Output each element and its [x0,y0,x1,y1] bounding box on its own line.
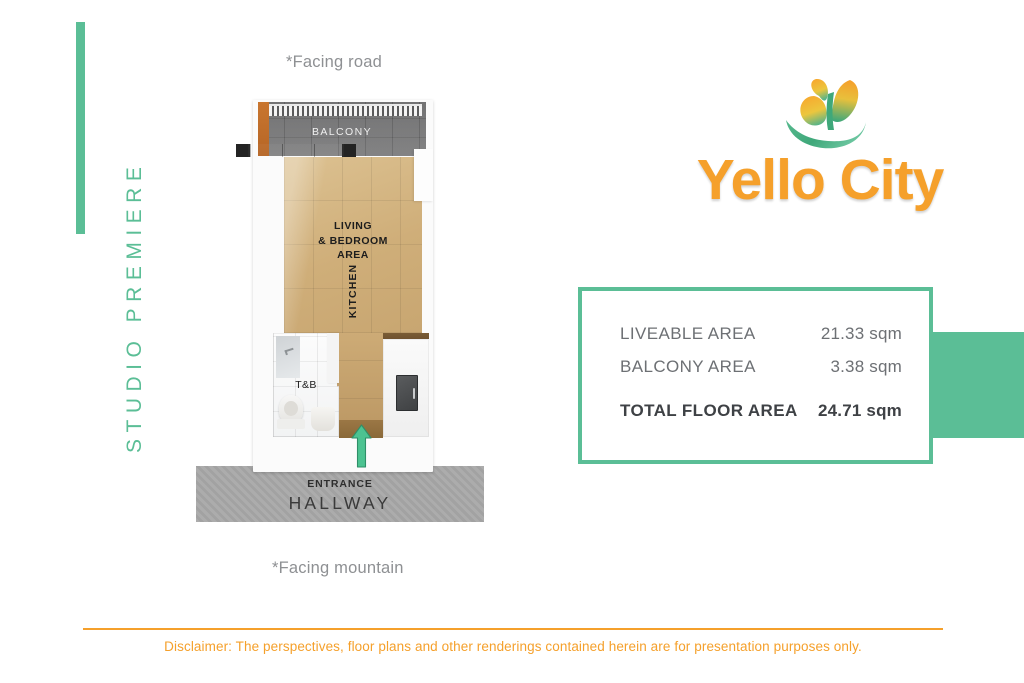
shower-area [276,336,300,378]
disclaimer-text: Disclaimer: The perspectives, floor plan… [83,639,943,654]
total-area-label: TOTAL FLOOR AREA [620,401,798,421]
unit-type-title: STUDIO PREMIERE [115,123,155,453]
footer-divider [83,628,943,630]
balcony-label: BALCONY [258,126,426,138]
toilet-tank [277,419,305,429]
floor-plan-drawing: ENTRANCE HALLWAY BALCONY LIVING & BEDROO… [196,90,496,530]
living-label-line1: LIVING [334,220,372,232]
hallway-label: HALLWAY [196,493,484,514]
entrance-label: ENTRANCE [196,478,484,490]
sink-fixture [311,407,335,431]
brand-logo: Yello City [694,78,946,214]
area-row-liveable: LIVEABLE AREA 21.33 sqm [620,324,902,344]
sprout-leaf-icon [766,78,886,154]
sliding-door-jamb-right [344,144,356,157]
kitchen-label: KITCHEN [346,245,360,337]
note-facing-mountain: *Facing mountain [272,559,404,578]
liveable-area-label: LIVEABLE AREA [620,324,756,344]
total-area-value: 24.71 sqm [818,401,902,421]
kitchen-partition-wall [327,333,339,383]
floorplan-page: STUDIO PREMIERE *Facing road *Facing mou… [0,0,1024,683]
green-accent-tab [930,332,1024,438]
area-row-total: TOTAL FLOOR AREA 24.71 sqm [620,401,902,421]
showerhead-icon [284,348,294,356]
sliding-glass-door [248,144,344,157]
wall-recess [414,149,433,201]
refrigerator-appliance [396,375,418,411]
sliding-door-jamb-left [236,144,248,157]
area-row-balcony: BALCONY AREA 3.38 sqm [620,357,902,377]
liveable-area-value: 21.33 sqm [821,324,902,344]
hallway-band: ENTRANCE HALLWAY [196,466,484,522]
balcony-railing [264,104,422,116]
balcony-area-label: BALCONY AREA [620,357,756,377]
entrance-arrow-icon [351,424,372,468]
balcony-area-value: 3.38 sqm [830,357,902,377]
logo-wordmark: Yello City [694,148,946,212]
area-summary-box: LIVEABLE AREA 21.33 sqm BALCONY AREA 3.3… [578,287,933,464]
note-facing-road: *Facing road [286,53,382,72]
accent-bar [76,22,85,234]
